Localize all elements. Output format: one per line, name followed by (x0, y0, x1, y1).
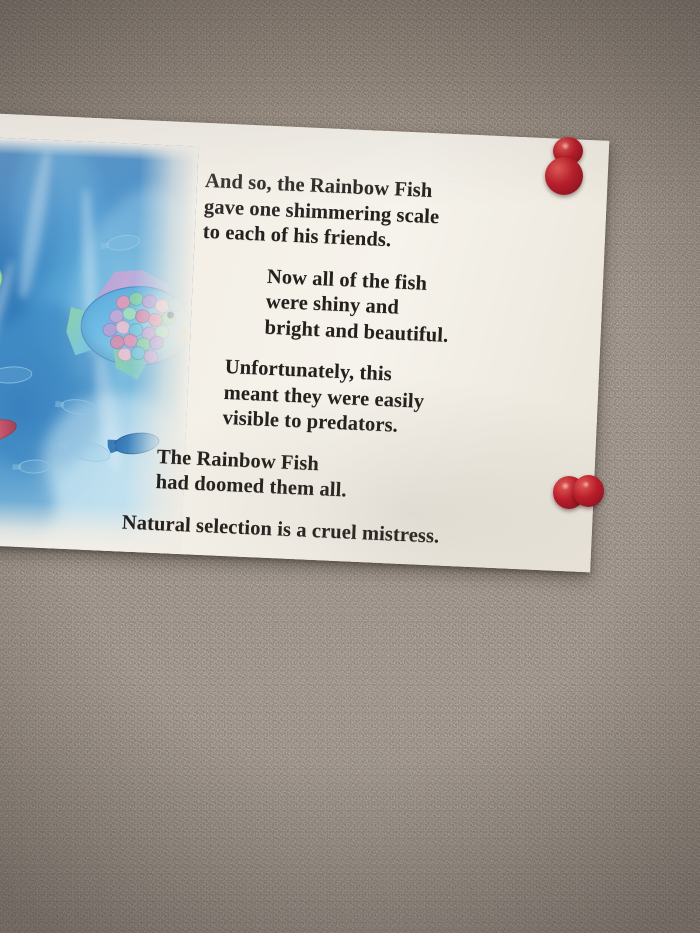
stanza-2: Now all of the fishwere shiny andbright … (264, 264, 587, 355)
stanza-1: And so, the Rainbow Fishgave one shimmer… (202, 169, 591, 263)
pushpin-top[interactable] (539, 137, 597, 199)
pushpin-highlight (561, 482, 570, 490)
pushpin-base (573, 475, 604, 507)
poem-text-block: And so, the Rainbow Fishgave one shimmer… (175, 168, 591, 555)
stanza-4: The Rainbow Fishhad doomed them all. (155, 445, 579, 515)
pushpin-bottom[interactable] (553, 474, 611, 514)
screenshot-root: And so, the Rainbow Fishgave one shimmer… (0, 0, 700, 933)
pushpin-base (545, 157, 583, 195)
pinned-paper[interactable]: And so, the Rainbow Fishgave one shimmer… (0, 112, 609, 572)
pushpin-highlight (582, 481, 590, 488)
green-fish-body (0, 255, 4, 300)
pushpin-highlight (561, 142, 570, 150)
stanza-5: Natural selection is a cruel mistress. (121, 510, 576, 556)
stanza-5-line-1: Natural selection is a cruel mistress. (121, 510, 576, 556)
stanza-3: Unfortunately, thismeant they were easil… (222, 355, 583, 447)
paper-sheet: And so, the Rainbow Fishgave one shimmer… (0, 112, 609, 572)
